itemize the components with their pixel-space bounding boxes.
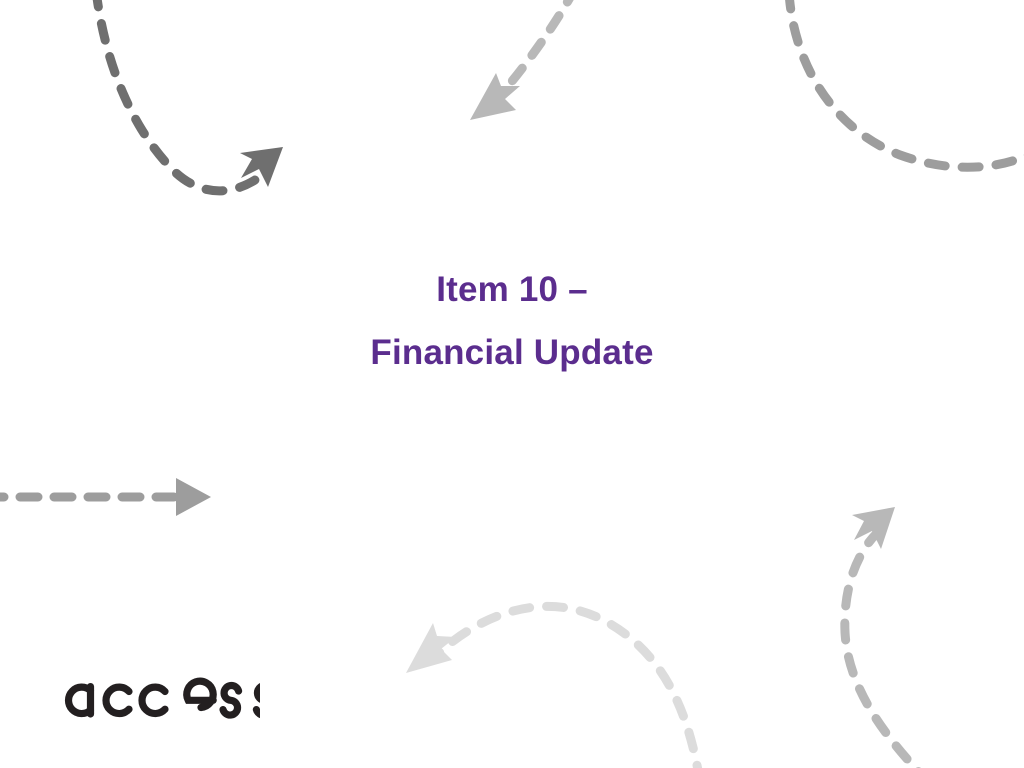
arrow-bottom-right [845,507,930,768]
arrow-left-middle [0,478,211,516]
title-line-1: Item 10 – [192,258,832,321]
arrowhead-left-middle [176,478,211,516]
arrow-top-right [789,0,1024,167]
arrow-bottom-center [406,606,700,768]
slide-title: Item 10 – Financial Update [192,258,832,384]
arrow-top-left [96,0,283,191]
slide-canvas: Item 10 – Financial Update access [0,0,1024,768]
arrowhead-top-left [240,147,283,187]
access-logo-mark [60,664,260,726]
arrowhead-bottom-center [406,623,456,673]
arrow-top-center [470,0,575,120]
access-logo: access [60,664,260,726]
title-line-2: Financial Update [192,321,832,384]
arrowhead-bottom-right [852,507,895,549]
decorative-arrows-layer [0,0,1024,768]
arrowhead-top-center [470,73,520,120]
